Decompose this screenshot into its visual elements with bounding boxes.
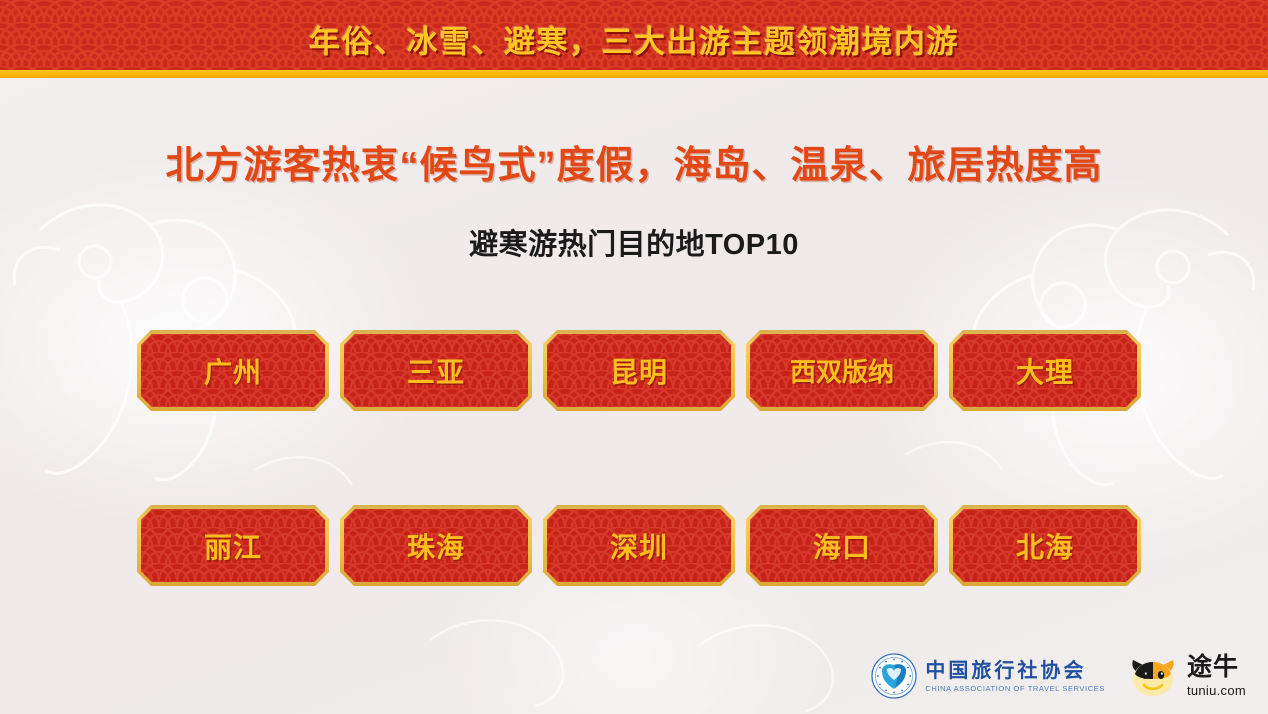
cats-logo: 中国旅行社协会 CHINA ASSOCIATION OF TRAVEL SERV… (871, 653, 1105, 699)
page-subtitle: 避寒游热门目的地TOP10 (0, 221, 1268, 263)
card-inner: 海口 (750, 509, 934, 582)
destination-row-1: 广州 三亚 昆明 西双版纳 (137, 330, 1137, 411)
destination-label: 昆明 (610, 351, 668, 391)
destination-card-kunming[interactable]: 昆明 (543, 330, 735, 411)
cats-name-cn: 中国旅行社协会 (925, 660, 1105, 682)
destination-label: 西双版纳 (790, 352, 894, 389)
destination-label: 广州 (204, 351, 262, 391)
page-title: 北方游客热衷“候鸟式”度假，海岛、温泉、旅居热度高 (0, 134, 1268, 189)
destination-label: 北海 (1016, 526, 1074, 566)
tuniu-url: tuniu.com (1187, 684, 1246, 697)
card-inner: 北海 (953, 509, 1137, 582)
card-inner: 三亚 (344, 334, 528, 407)
destination-card-zhuhai[interactable]: 珠海 (340, 505, 532, 586)
destination-card-grid: 广州 三亚 昆明 西双版纳 (137, 330, 1137, 586)
cow-head-icon (1127, 652, 1179, 700)
destination-label: 海口 (813, 526, 871, 566)
destination-card-beihai[interactable]: 北海 (949, 505, 1141, 586)
destination-label: 三亚 (407, 351, 465, 391)
header-gold-divider (0, 70, 1268, 78)
card-inner: 昆明 (547, 334, 731, 407)
card-inner: 深圳 (547, 509, 731, 582)
card-inner: 大理 (953, 334, 1137, 407)
destination-row-2: 丽江 珠海 深圳 海口 (137, 505, 1137, 586)
card-inner: 珠海 (344, 509, 528, 582)
destination-label: 珠海 (407, 526, 465, 566)
globe-emblem-icon (871, 653, 917, 699)
card-inner: 丽江 (141, 509, 325, 582)
banner-title: 年俗、冰雪、避寒，三大出游主题领潮境内游 (0, 16, 1268, 61)
cats-name-en: CHINA ASSOCIATION OF TRAVEL SERVICES (925, 684, 1105, 693)
tuniu-name-cn: 途牛 (1187, 655, 1246, 680)
footer-logo-bar: 中国旅行社协会 CHINA ASSOCIATION OF TRAVEL SERV… (871, 652, 1246, 700)
cats-text: 中国旅行社协会 CHINA ASSOCIATION OF TRAVEL SERV… (925, 660, 1105, 693)
destination-card-sanya[interactable]: 三亚 (340, 330, 532, 411)
destination-label: 丽江 (204, 526, 262, 566)
destination-card-shenzhen[interactable]: 深圳 (543, 505, 735, 586)
card-inner: 西双版纳 (750, 334, 934, 407)
destination-card-xishuangbanna[interactable]: 西双版纳 (746, 330, 938, 411)
destination-card-haikou[interactable]: 海口 (746, 505, 938, 586)
destination-label: 深圳 (610, 526, 668, 566)
destination-card-guangzhou[interactable]: 广州 (137, 330, 329, 411)
destination-card-lijiang[interactable]: 丽江 (137, 505, 329, 586)
tuniu-text: 途牛 tuniu.com (1187, 655, 1246, 697)
card-inner: 广州 (141, 334, 325, 407)
tuniu-logo: 途牛 tuniu.com (1127, 652, 1246, 700)
destination-label: 大理 (1016, 351, 1074, 391)
header-banner: 年俗、冰雪、避寒，三大出游主题领潮境内游 (0, 0, 1268, 77)
destination-card-dali[interactable]: 大理 (949, 330, 1141, 411)
